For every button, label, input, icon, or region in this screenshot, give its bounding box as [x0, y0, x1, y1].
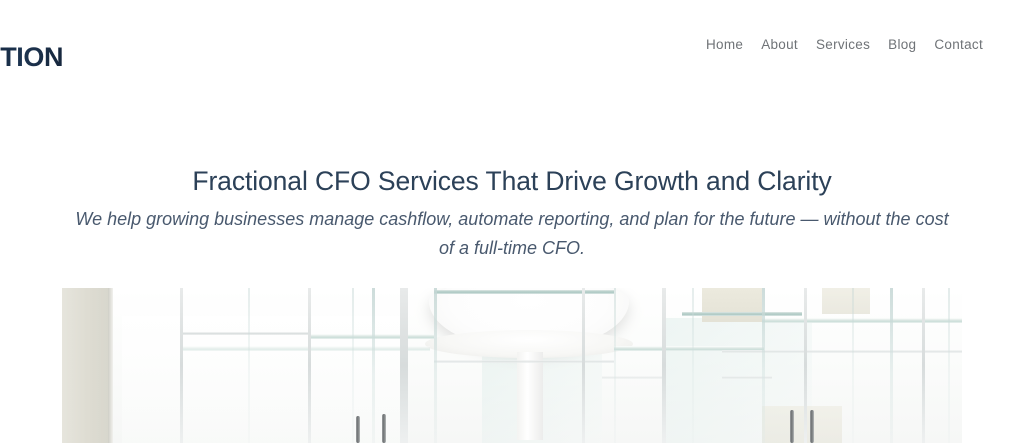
door-handle	[356, 416, 360, 443]
door-handle	[790, 410, 794, 443]
window-mullion	[804, 288, 807, 443]
hero-subtitle: We help growing businesses manage cashfl…	[72, 205, 952, 263]
glass-rail	[180, 332, 308, 335]
hero-image	[62, 288, 962, 443]
window-mullion	[180, 288, 183, 443]
glass-edge	[890, 288, 893, 443]
glass-rail	[434, 360, 614, 363]
glass-rail	[722, 350, 962, 353]
left-wall-column	[62, 288, 108, 443]
ceiling-wall-block	[822, 288, 870, 314]
nav-item-contact[interactable]: Contact	[934, 37, 983, 52]
window-mullion	[248, 288, 250, 443]
nav-item-about[interactable]: About	[761, 37, 798, 52]
glass-edge	[762, 288, 765, 443]
glass-edge	[434, 288, 437, 443]
site-header: ACTION Home About Services Blog Contact	[0, 0, 1024, 118]
window-mullion	[922, 288, 925, 443]
site-logo[interactable]: ACTION	[0, 44, 63, 102]
glass-edge	[852, 288, 854, 443]
window-mullion	[582, 288, 585, 443]
window-mullion	[662, 288, 666, 443]
nav-item-home[interactable]: Home	[706, 37, 743, 52]
hero-text-block: Fractional CFO Services That Drive Growt…	[0, 165, 1024, 263]
glass-edge	[948, 288, 950, 443]
landing-page: ACTION Home About Services Blog Contact …	[0, 0, 1024, 443]
glass-edge	[614, 288, 616, 443]
glass-rail-top	[434, 290, 614, 294]
nav-item-blog[interactable]: Blog	[888, 37, 916, 52]
lamp-stem	[517, 352, 543, 440]
glass-rail	[762, 318, 962, 323]
ceiling-wall-block	[702, 288, 762, 322]
page-title: Fractional CFO Services That Drive Growt…	[0, 165, 1024, 197]
nav-item-services[interactable]: Services	[816, 37, 870, 52]
door-handle	[810, 410, 814, 443]
pendant-lamp	[429, 288, 629, 380]
door-frame	[400, 288, 408, 443]
glass-edge	[372, 288, 375, 443]
lower-wall-block	[762, 406, 842, 443]
main-navigation: Home About Services Blog Contact	[706, 37, 983, 52]
door-handle	[382, 414, 386, 443]
glass-edge	[352, 288, 354, 443]
glass-rail	[682, 312, 802, 316]
office-interior-illustration	[62, 288, 962, 443]
glass-rail	[308, 334, 434, 339]
glass-rail	[602, 376, 662, 379]
logo-wordmark: ACTION	[0, 44, 63, 71]
glass-edge	[692, 288, 694, 443]
window-mullion	[308, 288, 311, 443]
glass-rail	[180, 346, 430, 351]
left-wall-edge	[108, 288, 113, 443]
